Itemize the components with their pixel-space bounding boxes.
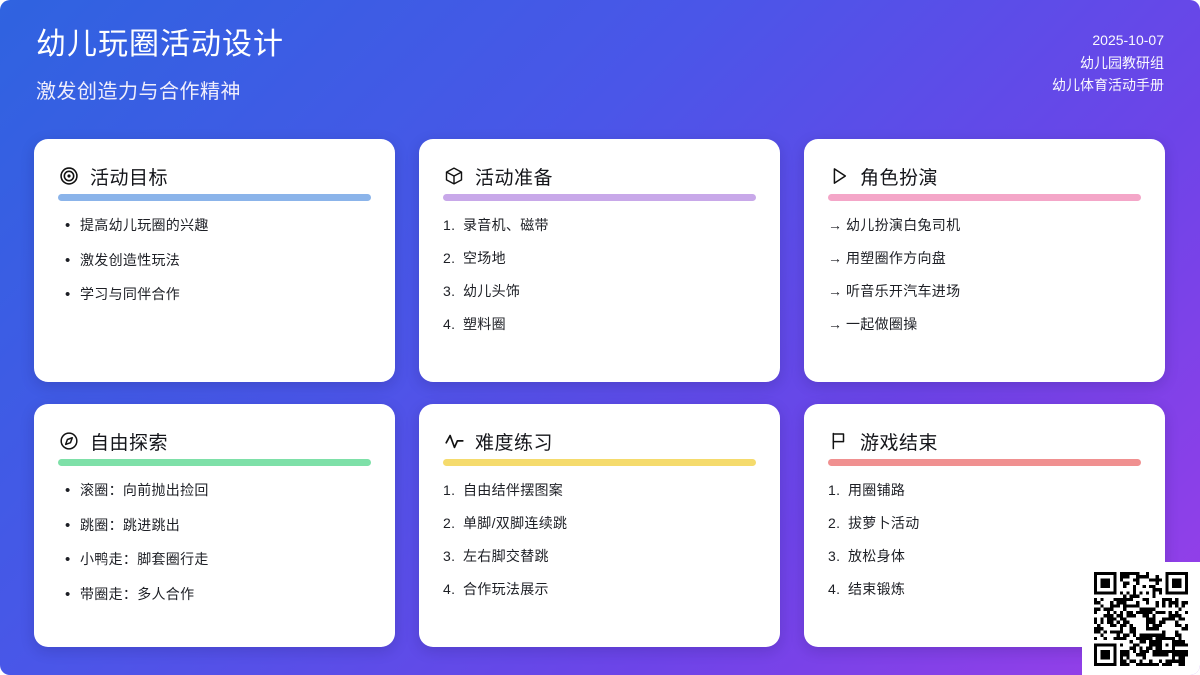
list-item: →用塑圈作方向盘 <box>828 248 1141 269</box>
list-item: •小鸭走：脚套圈行走 <box>58 549 371 572</box>
card-accent-rule <box>58 459 371 466</box>
list-marker: → <box>828 281 846 302</box>
poster-root: 幼儿玩圈活动设计 激发创造力与合作精神 2025-10-07 幼儿园教研组 幼儿… <box>0 0 1200 675</box>
header-title-block: 幼儿玩圈活动设计 激发创造力与合作精神 <box>36 26 284 104</box>
card-list: •滚圈：向前抛出捡回•跳圈：跳进跳出•小鸭走：脚套圈行走•带圈走：多人合作 <box>58 480 371 618</box>
list-item: 4.合作玩法展示 <box>443 579 756 600</box>
list-item-text: 自由结伴摆图案 <box>463 480 756 501</box>
flag-icon <box>828 430 850 452</box>
list-item-text: 左右脚交替跳 <box>463 546 756 567</box>
qr-code <box>1094 572 1188 666</box>
list-item-text: 幼儿头饰 <box>463 281 756 302</box>
list-item: •学习与同伴合作 <box>58 284 371 307</box>
card-accent-rule <box>443 194 756 201</box>
qr-code-panel <box>1082 562 1200 675</box>
list-item-text: 听音乐开汽车进场 <box>846 281 1141 302</box>
card-list: •提高幼儿玩圈的兴趣•激发创造性玩法•学习与同伴合作 <box>58 215 371 319</box>
list-marker: 1. <box>443 480 463 501</box>
list-item: •提高幼儿玩圈的兴趣 <box>58 215 371 238</box>
list-item: 2.拔萝卜活动 <box>828 513 1141 534</box>
card-activity-goals[interactable]: 活动目标•提高幼儿玩圈的兴趣•激发创造性玩法•学习与同伴合作 <box>34 139 395 382</box>
list-item-text: 小鸭走：脚套圈行走 <box>80 549 371 570</box>
list-item-text: 用塑圈作方向盘 <box>846 248 1141 269</box>
list-item-text: 幼儿扮演白兔司机 <box>846 215 1141 236</box>
target-icon <box>58 165 80 187</box>
list-item: 2.空场地 <box>443 248 756 269</box>
list-item: •激发创造性玩法 <box>58 250 371 273</box>
page-title: 幼儿玩圈活动设计 <box>36 26 284 64</box>
list-item-text: 学习与同伴合作 <box>80 284 371 305</box>
card-title: 角色扮演 <box>860 163 938 190</box>
list-item: →听音乐开汽车进场 <box>828 281 1141 302</box>
list-marker: 3. <box>828 546 848 567</box>
list-marker: • <box>58 515 80 538</box>
card-title: 自由探索 <box>90 428 168 455</box>
card-accent-rule <box>58 194 371 201</box>
list-marker: 4. <box>443 579 463 600</box>
card-list: 1.录音机、磁带2.空场地3.幼儿头饰4.塑料圈 <box>443 215 756 347</box>
play-icon <box>828 165 850 187</box>
list-item-text: 用圈铺路 <box>848 480 1141 501</box>
meta-date: 2025-10-07 <box>1092 29 1164 52</box>
list-item: •跳圈：跳进跳出 <box>58 515 371 538</box>
card-title: 难度练习 <box>475 428 553 455</box>
list-item-text: 激发创造性玩法 <box>80 250 371 271</box>
list-item: •带圈走：多人合作 <box>58 584 371 607</box>
list-marker: 1. <box>828 480 848 501</box>
list-item-text: 带圈走：多人合作 <box>80 584 371 605</box>
card-header: 活动准备 <box>443 163 756 189</box>
list-marker: 1. <box>443 215 463 236</box>
list-marker: 3. <box>443 546 463 567</box>
card-free-exploration[interactable]: 自由探索•滚圈：向前抛出捡回•跳圈：跳进跳出•小鸭走：脚套圈行走•带圈走：多人合… <box>34 404 395 647</box>
list-item-text: 塑料圈 <box>463 314 756 335</box>
card-list: →幼儿扮演白兔司机→用塑圈作方向盘→听音乐开汽车进场→一起做圈操 <box>828 215 1141 347</box>
list-marker: 3. <box>443 281 463 302</box>
page-subtitle: 激发创造力与合作精神 <box>36 75 284 104</box>
list-item-text: 一起做圈操 <box>846 314 1141 335</box>
box-icon <box>443 165 465 187</box>
card-header: 游戏结束 <box>828 428 1141 454</box>
list-item: 4.塑料圈 <box>443 314 756 335</box>
card-title: 活动准备 <box>475 163 553 190</box>
list-marker: • <box>58 284 80 307</box>
header-meta-block: 2025-10-07 幼儿园教研组 幼儿体育活动手册 <box>1052 26 1164 97</box>
list-item: →幼儿扮演白兔司机 <box>828 215 1141 236</box>
list-item-text: 提高幼儿玩圈的兴趣 <box>80 215 371 236</box>
card-header: 角色扮演 <box>828 163 1141 189</box>
list-item-text: 拔萝卜活动 <box>848 513 1141 534</box>
list-marker: 4. <box>443 314 463 335</box>
list-item: 1.录音机、磁带 <box>443 215 756 236</box>
card-list: 1.自由结伴摆图案2.单脚/双脚连续跳3.左右脚交替跳4.合作玩法展示 <box>443 480 756 612</box>
list-item-text: 跳圈：跳进跳出 <box>80 515 371 536</box>
list-marker: 2. <box>443 248 463 269</box>
list-item-text: 单脚/双脚连续跳 <box>463 513 756 534</box>
card-header: 自由探索 <box>58 428 371 454</box>
card-activity-preparation[interactable]: 活动准备1.录音机、磁带2.空场地3.幼儿头饰4.塑料圈 <box>419 139 780 382</box>
list-item: •滚圈：向前抛出捡回 <box>58 480 371 503</box>
card-grid: 活动目标•提高幼儿玩圈的兴趣•激发创造性玩法•学习与同伴合作活动准备1.录音机、… <box>34 139 1166 647</box>
list-item-text: 空场地 <box>463 248 756 269</box>
card-title: 游戏结束 <box>860 428 938 455</box>
list-marker: • <box>58 215 80 238</box>
list-item: 3.幼儿头饰 <box>443 281 756 302</box>
meta-organization: 幼儿园教研组 <box>1080 52 1164 75</box>
card-header: 难度练习 <box>443 428 756 454</box>
list-marker: → <box>828 314 846 335</box>
activity-pulse-icon <box>443 430 465 452</box>
poster-header: 幼儿玩圈活动设计 激发创造力与合作精神 2025-10-07 幼儿园教研组 幼儿… <box>0 0 1200 130</box>
list-marker: • <box>58 584 80 607</box>
card-difficulty-practice[interactable]: 难度练习1.自由结伴摆图案2.单脚/双脚连续跳3.左右脚交替跳4.合作玩法展示 <box>419 404 780 647</box>
list-item: →一起做圈操 <box>828 314 1141 335</box>
card-title: 活动目标 <box>90 163 168 190</box>
list-item-text: 合作玩法展示 <box>463 579 756 600</box>
card-accent-rule <box>828 459 1141 466</box>
list-item: 1.自由结伴摆图案 <box>443 480 756 501</box>
card-header: 活动目标 <box>58 163 371 189</box>
list-marker: 2. <box>828 513 848 534</box>
list-item: 1.用圈铺路 <box>828 480 1141 501</box>
list-marker: • <box>58 250 80 273</box>
list-item-text: 录音机、磁带 <box>463 215 756 236</box>
list-marker: 2. <box>443 513 463 534</box>
list-item: 3.左右脚交替跳 <box>443 546 756 567</box>
list-marker: → <box>828 215 846 236</box>
meta-source: 幼儿体育活动手册 <box>1052 74 1164 97</box>
list-item: 2.单脚/双脚连续跳 <box>443 513 756 534</box>
card-accent-rule <box>828 194 1141 201</box>
list-item-text: 滚圈：向前抛出捡回 <box>80 480 371 501</box>
card-role-play[interactable]: 角色扮演→幼儿扮演白兔司机→用塑圈作方向盘→听音乐开汽车进场→一起做圈操 <box>804 139 1165 382</box>
compass-icon <box>58 430 80 452</box>
list-marker: 4. <box>828 579 848 600</box>
list-marker: • <box>58 480 80 503</box>
list-marker: → <box>828 248 846 269</box>
card-accent-rule <box>443 459 756 466</box>
list-marker: • <box>58 549 80 572</box>
